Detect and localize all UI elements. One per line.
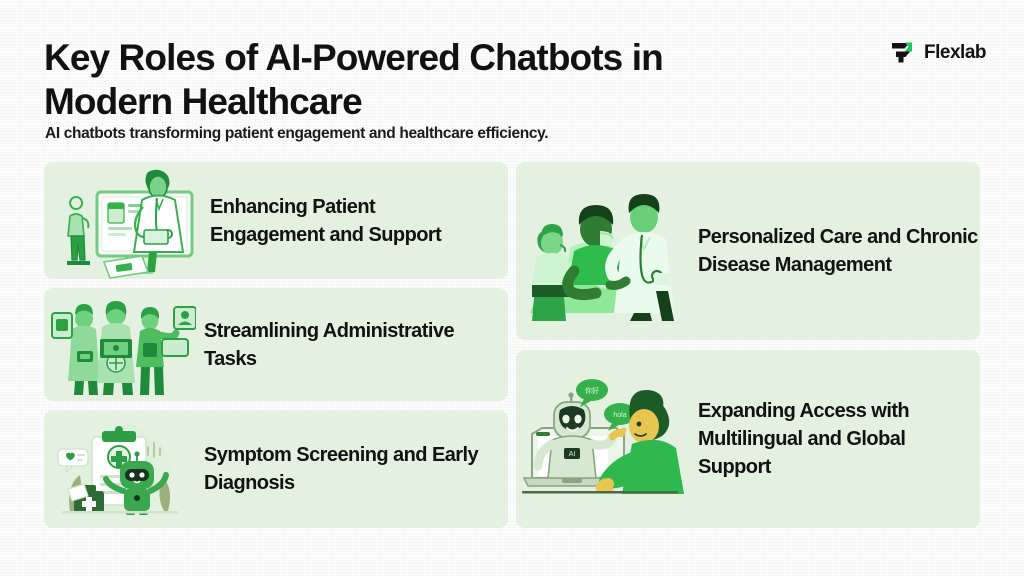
card-title: Streamlining Administrative Tasks [204,317,494,373]
header: Key Roles of AI-Powered Chatbots in Mode… [0,0,1024,150]
telemedicine-monitor-illustration [44,162,210,279]
card-symptom-screening-early-diagnosis[interactable]: Symptom Screening and Early Diagnosis [44,410,508,528]
robot-laptop-conversation-illustration: AI 你好 hola [516,374,684,504]
svg-text:hola: hola [613,412,626,419]
robot-clipboard-illustration [44,419,196,519]
card-expanding-access-multilingual[interactable]: AI 你好 hola [516,350,980,528]
infographic-page: Key Roles of AI-Powered Chatbots in Mode… [0,0,1024,576]
card-title: Expanding Access with Multilingual and G… [698,397,978,481]
svg-text:你好: 你好 [585,386,599,395]
brand-logo: Flexlab [889,40,986,65]
svg-text:AI: AI [569,451,576,458]
page-title: Key Roles of AI-Powered Chatbots in Mode… [44,36,744,124]
brand-name: Flexlab [924,42,986,64]
doctor-patient-bedside-illustration [516,181,684,321]
page-subtitle: AI chatbots transforming patient engagem… [45,124,745,144]
card-enhancing-patient-engagement[interactable]: Enhancing Patient Engagement and Support [44,162,508,279]
card-title: Symptom Screening and Early Diagnosis [204,441,494,497]
card-title: Personalized Care and Chronic Disease Ma… [698,223,978,279]
card-personalized-care-chronic-disease[interactable]: Personalized Care and Chronic Disease Ma… [516,162,980,340]
flexlab-logo-icon [889,40,915,65]
medical-staff-devices-illustration [44,295,196,395]
card-title: Enhancing Patient Engagement and Support [210,193,480,249]
card-streamlining-administrative-tasks[interactable]: Streamlining Administrative Tasks [44,288,508,401]
